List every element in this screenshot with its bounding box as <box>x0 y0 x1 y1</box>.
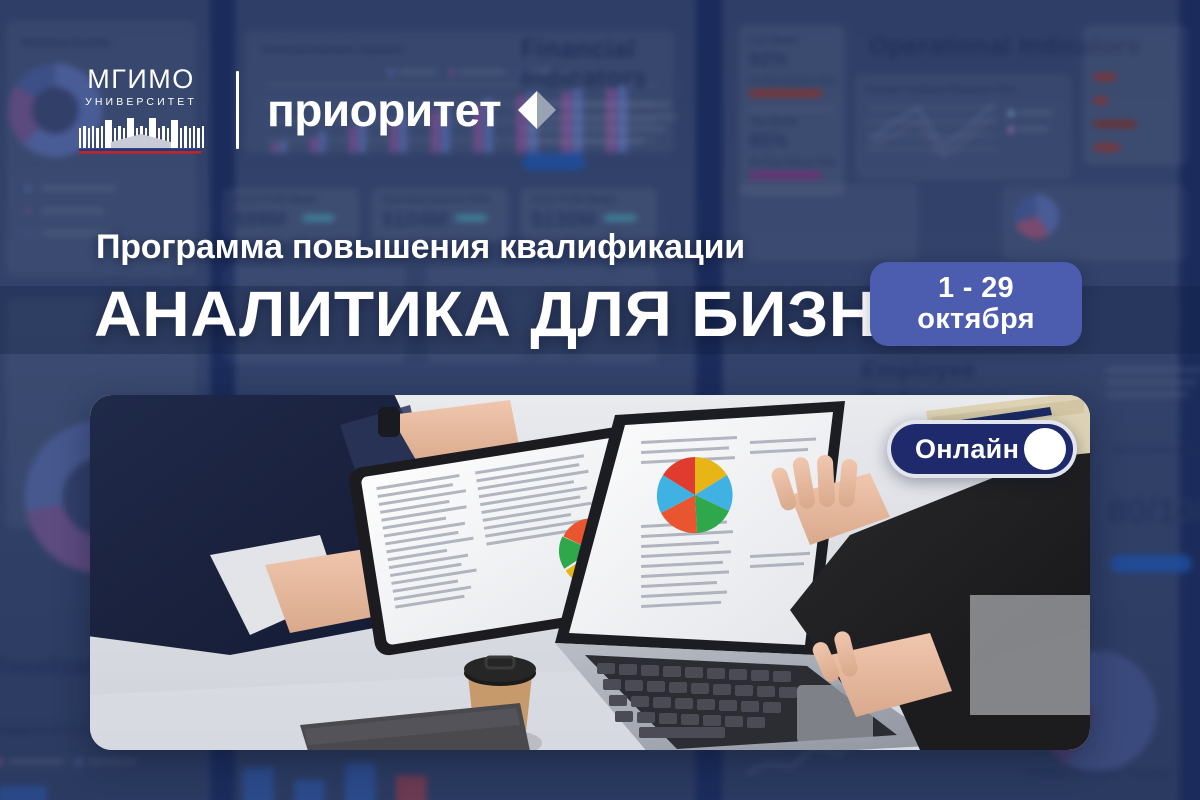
background-legend-dot <box>25 186 31 192</box>
prioritet-logo[interactable]: приоритет <box>267 87 560 133</box>
background-legend-label <box>41 208 104 213</box>
background-progress-bar <box>1094 74 1116 81</box>
logo-divider <box>236 71 239 149</box>
background-button <box>1110 555 1192 572</box>
background-card-title: Product Inventory Turnover <box>1026 767 1173 779</box>
background-legend-label <box>1018 127 1049 132</box>
prioritet-diamond-icon <box>514 87 560 133</box>
background-metric-pill <box>455 214 488 221</box>
background-legend-dot <box>1008 110 1014 116</box>
mgimo-subtitle: УНИВЕРСИТЕТ <box>85 97 197 108</box>
date-badge: 1 - 29 октября <box>870 262 1082 346</box>
background-legend-dot <box>76 759 82 765</box>
mgimo-name: МГИМО <box>87 66 195 93</box>
background-kpi-sub: On-Time Delivery Rate <box>749 157 836 166</box>
background-kpi-sub: On-Time Delivery Rate <box>749 76 836 85</box>
background-line-chart <box>865 94 1008 167</box>
background-card-title: Revenue Growth <box>21 37 110 49</box>
date-month: октября <box>917 304 1035 335</box>
background-chart-title: Financial Indicators Statistics <box>261 45 405 56</box>
background-chart-title: Average Customer Response Time <box>865 84 1017 94</box>
toggle-knob-icon <box>1024 428 1066 470</box>
background-metric-label: Gross Profit Margin <box>233 194 319 204</box>
background-legend-label <box>1018 110 1053 115</box>
online-label: Онлайн <box>915 434 1024 465</box>
background-metric-pill <box>604 214 637 221</box>
background-kpi-label: This Month <box>749 116 798 126</box>
logo-row: МГИМО УНИВЕРСИТЕТ <box>72 58 560 162</box>
background-progress-bar <box>1094 97 1108 104</box>
online-badge[interactable]: Онлайн <box>887 420 1077 478</box>
background-metric-label: Gross Profit Margin <box>531 194 617 204</box>
background-paragraph-line <box>1106 392 1190 397</box>
background-progress-bar <box>749 172 822 179</box>
background-kpi-value: 92% <box>749 49 788 71</box>
program-subtitle: Программа повышения квалификации <box>96 228 745 267</box>
background-legend-dot <box>25 231 31 237</box>
background-kpi-value: 95% <box>749 131 788 153</box>
background-bar <box>243 767 274 800</box>
background-metric-pill <box>302 214 335 221</box>
background-paragraph-line <box>1106 367 1200 372</box>
background-legend-dot <box>0 759 2 765</box>
background-bar <box>294 779 325 800</box>
background-paragraph-line <box>1106 380 1198 385</box>
background-kpi-label: Last Month <box>749 35 798 45</box>
background-progress-bar <box>1094 144 1121 151</box>
mgimo-logo[interactable]: МГИМО УНИВЕРСИТЕТ <box>72 66 210 155</box>
background-kpi-value: 80/100 <box>1108 492 1200 532</box>
background-donut-chart <box>1014 194 1059 239</box>
background-legend-dot <box>1008 127 1014 133</box>
date-range: 1 - 29 <box>938 273 1014 304</box>
background-legend-label <box>88 759 137 764</box>
background-kpi-label: Net Promoter Score <box>1114 445 1200 455</box>
background-progress-bar <box>1094 121 1137 128</box>
background-bar <box>345 763 376 800</box>
background-panel <box>739 184 919 262</box>
mgimo-building-icon <box>77 112 205 154</box>
background-legend-label <box>8 759 65 764</box>
background-card-title: Employee Engagement Score <box>0 722 101 736</box>
promo-banner: Revenue Growth Data Visualizations Emplo… <box>0 0 1200 800</box>
background-bar <box>396 775 427 800</box>
background-metric-label: Operating Expense Ratio <box>382 194 491 204</box>
prioritet-name: приоритет <box>267 87 501 133</box>
background-legend-dot <box>25 208 31 214</box>
background-bar <box>0 786 47 800</box>
background-legend-label <box>41 186 116 191</box>
background-progress-bar <box>749 90 822 97</box>
background-divider <box>749 108 835 110</box>
